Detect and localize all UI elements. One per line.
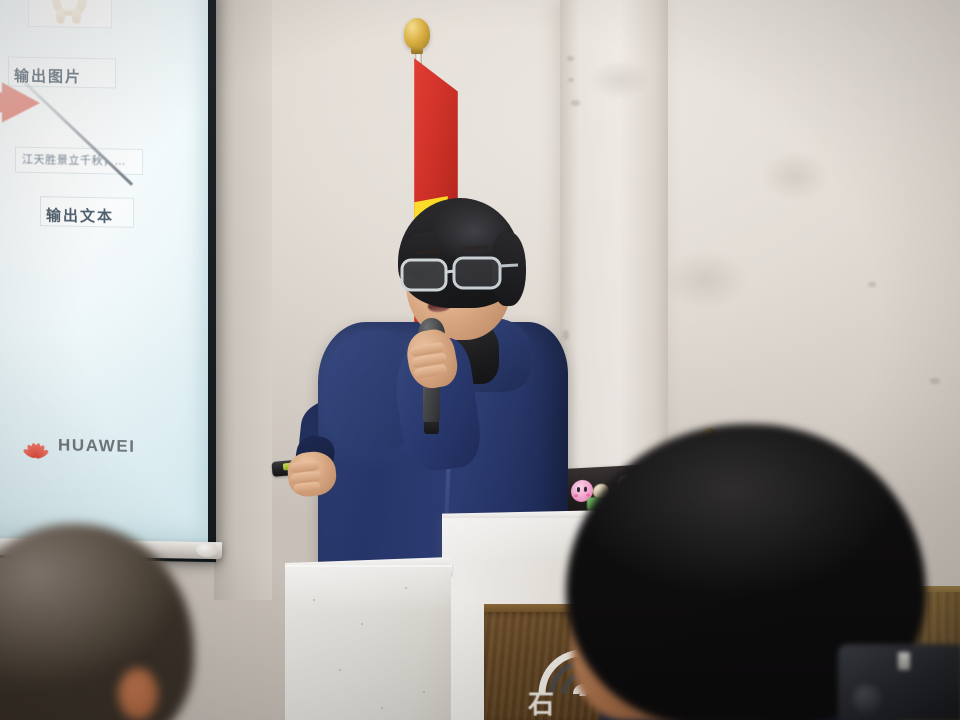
flag-finial-icon [404,18,430,50]
wall-scuff [571,100,580,106]
eyeglasses-icon [398,252,524,292]
photo-scene: 输出图片 解码 江天胜景立千秋，... 输出文本 [0,0,960,720]
corgi-dog-icon [43,0,97,27]
huawei-logo: HUAWEI [22,431,136,460]
slide-output-image-thumbnail [28,0,112,28]
wall-scuff [567,56,574,61]
wall-scuff [563,330,569,340]
projection-screen-knob[interactable] [196,542,218,557]
presentation-slide: 输出图片 解码 江天胜景立千秋，... 输出文本 [0,0,208,542]
wall-left-return [214,0,272,600]
wall-scuff [930,378,940,384]
huawei-wordmark: HUAWEI [58,435,136,456]
wall-smudge [760,150,830,202]
plaque-chinese-text: 石 [528,684,558,720]
slide-output-text-label: 输出文本 [46,204,114,226]
wall-scuff [568,78,574,82]
bag-clip [898,652,910,670]
wall-scuff [868,282,876,287]
audience-left-ear [118,668,158,720]
wall-smudge [660,250,750,310]
huawei-petal-icon [22,431,49,458]
podium [285,565,451,720]
projection-screen[interactable]: 输出图片 解码 江天胜景立千秋，... 输出文本 [0,0,208,542]
decode-arrow-icon [0,81,40,123]
bag-dial [852,684,882,714]
wall-smudge [590,60,650,100]
